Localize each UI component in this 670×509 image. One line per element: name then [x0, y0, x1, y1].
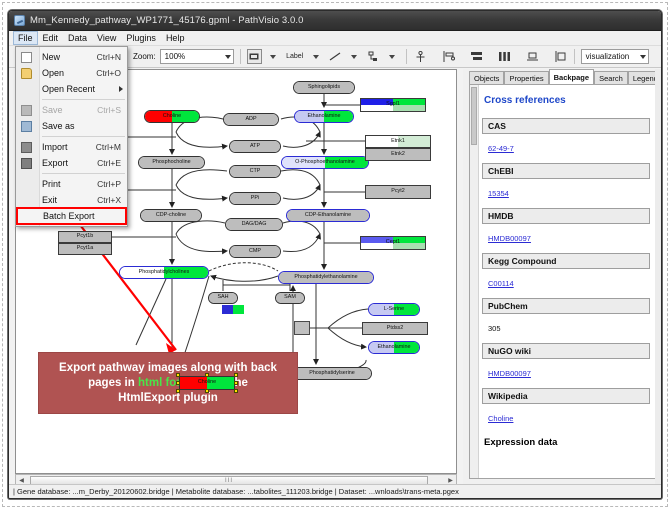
file-menu-item-save: SaveCtrl+S: [16, 102, 127, 118]
interaction-dropdown-icon[interactable]: [385, 49, 400, 64]
selection-handle[interactable]: [176, 389, 180, 393]
gene-node[interactable]: Pcyt1b: [58, 231, 112, 243]
xref-value: 305: [488, 324, 501, 333]
menu-help[interactable]: Help: [161, 31, 190, 45]
statusbar: | Gene database: ...m_Derby_20120602.bri…: [9, 484, 661, 498]
metabolite-label: CDP-choline: [156, 213, 186, 218]
gene-node[interactable]: Etnk1: [365, 135, 431, 148]
file-menu-item-import[interactable]: ImportCtrl+M: [16, 139, 127, 155]
line-dropdown-icon[interactable]: [347, 49, 362, 64]
file-menu-accelerator: Ctrl+X: [97, 195, 127, 205]
xref-database-header: PubChem: [482, 298, 650, 314]
metabolite-label: Sphingolipids: [308, 85, 340, 90]
panel-right-edge: [655, 69, 661, 486]
metabolite-label: SAM: [284, 295, 296, 300]
xref-value-row: HMDB00097: [482, 363, 659, 388]
metabolite-label: SAH: [217, 295, 228, 300]
file-menu-label: Batch Export: [43, 211, 120, 221]
metabolite-label: ADP: [245, 117, 256, 122]
gene-label: Ptdss2: [387, 326, 403, 331]
xref-value-row: 62-49-7: [482, 138, 659, 163]
metabolite-node[interactable]: CDP-Ethanolamine: [286, 209, 370, 222]
align-left-icon[interactable]: [441, 49, 456, 64]
selection-handle[interactable]: [176, 373, 180, 377]
file-menu-label: Export: [42, 158, 97, 168]
file-menu-label: Save as: [42, 121, 121, 131]
gene-node[interactable]: Cept1: [360, 236, 426, 250]
file-menu-separator: [42, 99, 125, 100]
cross-references-title: Cross references: [484, 95, 659, 106]
metabolite-label: PPi: [251, 196, 259, 201]
tab-search[interactable]: Search: [594, 71, 628, 84]
metabolite-node[interactable]: PPi: [229, 192, 281, 205]
xref-link[interactable]: C00114: [488, 279, 514, 288]
align-center-icon[interactable]: [469, 49, 484, 64]
file-menu-item-new[interactable]: NewCtrl+N: [16, 49, 127, 65]
metabolite-node[interactable]: Phosphocholine: [138, 156, 205, 169]
metabolite-label: O-Phosphoethanolamine: [295, 160, 355, 165]
metabolite-label: CTP: [250, 169, 261, 174]
visualization-value: visualization: [586, 52, 630, 61]
gene-node[interactable]: Etnk2: [365, 148, 431, 161]
menu-data[interactable]: Data: [63, 31, 92, 45]
file-menu-accelerator: Ctrl+O: [96, 68, 127, 78]
screenshot-root: Mm_Kennedy_pathway_WP1771_45176.gpml - P…: [0, 0, 670, 509]
align-bottom-icon[interactable]: [525, 49, 540, 64]
file-menu-accelerator: Ctrl+P: [97, 179, 127, 189]
small-split-box: [222, 305, 244, 314]
metabolite-node[interactable]: SAM: [275, 292, 305, 304]
datanode-dropdown-icon[interactable]: [266, 49, 281, 64]
menu-edit[interactable]: Edit: [38, 31, 64, 45]
gene-label: Etnk1: [391, 139, 405, 144]
file-menu-item-batch-export[interactable]: Batch Export: [17, 208, 126, 224]
xref-link[interactable]: 15354: [488, 189, 509, 198]
metabolite-label: Ethanolamine: [378, 345, 411, 350]
xref-value-row: C00114: [482, 273, 659, 298]
metabolite-label: Phosphatidylethanolamine: [294, 275, 357, 280]
selection-handle[interactable]: [234, 389, 238, 393]
annotation-line-3: HtmlExport plugin: [118, 391, 218, 406]
gene-label: Pcyt1a: [77, 246, 93, 251]
metabolite-node[interactable]: CTP: [229, 165, 281, 178]
interaction-anchor-box: [294, 321, 310, 335]
pathvisio-icon: [14, 15, 25, 26]
metabolite-node[interactable]: Phosphatidylserine: [292, 367, 372, 380]
xref-database-header: ChEBI: [482, 163, 650, 179]
file-menu-item-export[interactable]: ExportCtrl+E: [16, 155, 127, 171]
metabolite-node[interactable]: DAG/DAG: [225, 218, 283, 231]
xref-link[interactable]: Choline: [488, 414, 513, 423]
selected-node-label: Choline: [198, 380, 216, 385]
file-menu-item-print[interactable]: PrintCtrl+P: [16, 176, 127, 192]
metabolite-node[interactable]: O-Phosphoethanolamine: [281, 156, 369, 169]
metabolite-label: Choline: [163, 114, 181, 119]
file-menu-label: New: [42, 52, 97, 62]
export-icon: [21, 158, 32, 169]
gene-node[interactable]: Sgpl1: [360, 98, 426, 112]
file-menu-label: Open: [42, 68, 96, 78]
metabolite-node[interactable]: SAH: [208, 292, 238, 304]
cross-reference-list: CAS62-49-7ChEBI15354HMDBHMDB00097Kegg Co…: [482, 118, 659, 433]
file-menu-accelerator: Ctrl+M: [96, 142, 127, 152]
file-menu-label: Import: [42, 142, 96, 152]
save-disk-icon: [21, 105, 32, 116]
menu-view[interactable]: View: [92, 31, 121, 45]
metabolite-label: ATP: [250, 144, 260, 149]
metabolite-label: CDP-Ethanolamine: [305, 213, 351, 218]
file-menu-item-open-recent[interactable]: Open Recent: [16, 81, 127, 97]
chevron-down-icon: [225, 55, 231, 59]
gene-label: Pcyt2: [391, 189, 404, 194]
side-panel-tabstrip: Objects Properties Backpage Search Legen…: [469, 69, 662, 84]
window-title: Mm_Kennedy_pathway_WP1771_45176.gpml - P…: [30, 15, 304, 26]
zoom-combo[interactable]: 100%: [160, 49, 234, 64]
distribute-horizontal-icon[interactable]: [497, 49, 512, 64]
metabolite-label: DAG/DAG: [242, 222, 267, 227]
metabolite-node[interactable]: L-Serine: [368, 303, 420, 316]
chevron-down-icon-2: [640, 55, 646, 59]
file-menu-item-open[interactable]: OpenCtrl+O: [16, 65, 127, 81]
visualization-combo[interactable]: visualization: [581, 49, 649, 64]
backpage-scrollbar[interactable]: [470, 85, 479, 478]
metabolite-node[interactable]: Choline: [144, 110, 200, 123]
file-menu-separator: [42, 173, 125, 174]
selection-handle[interactable]: [205, 373, 209, 377]
label-button[interactable]: Label: [285, 49, 305, 64]
expression-data-title: Expression data: [484, 437, 659, 448]
metabolite-label: Phosphatidylcholines: [139, 270, 190, 275]
zoom-value: 100%: [165, 52, 185, 61]
gene-label: Cept1: [386, 240, 400, 245]
scroll-grip-icon: III: [225, 478, 233, 484]
xref-value-row: HMDB00097: [482, 228, 659, 253]
file-menu-dropdown[interactable]: NewCtrl+NOpenCtrl+OOpen RecentSaveCtrl+S…: [15, 46, 128, 227]
backpage-content: Cross references CAS62-49-7ChEBI15354HMD…: [482, 89, 659, 448]
metabolite-node[interactable]: ADP: [223, 113, 279, 126]
xref-value-row: 15354: [482, 183, 659, 208]
open-folder-icon: [21, 68, 32, 79]
xref-value-row: Choline: [482, 408, 659, 433]
menu-plugins[interactable]: Plugins: [121, 31, 161, 45]
metabolite-node[interactable]: CDP-choline: [140, 209, 202, 222]
toolbar-separator: [240, 49, 241, 64]
xref-database-header: NuGO wiki: [482, 343, 650, 359]
menu-file[interactable]: File: [13, 31, 38, 45]
file-menu-accelerator: Ctrl+N: [97, 52, 127, 62]
metabolite-node[interactable]: Sphingolipids: [293, 81, 355, 94]
anchor-icon[interactable]: [413, 49, 428, 64]
file-menu-label: Save: [42, 105, 97, 115]
xref-database-header: Kegg Compound: [482, 253, 650, 269]
metabolite-node[interactable]: Ethanolamine: [368, 341, 420, 354]
xref-link[interactable]: HMDB00097: [488, 369, 531, 378]
datanode-shape-icon[interactable]: [247, 49, 262, 64]
pathvisio-window: Mm_Kennedy_pathway_WP1771_45176.gpml - P…: [8, 10, 662, 499]
side-panel: Objects Properties Backpage Search Legen…: [463, 69, 662, 486]
selection-handle[interactable]: [205, 389, 209, 393]
gene-node[interactable]: Pcyt2: [365, 185, 431, 199]
metabolite-label: Ethanolamine: [308, 114, 341, 119]
tab-backpage[interactable]: Backpage: [549, 69, 594, 84]
gene-label: Pcyt1b: [77, 234, 93, 239]
label-button-text: Label: [286, 53, 303, 60]
metabolite-label: Phosphocholine: [152, 160, 190, 165]
xref-database-header: Wikipedia: [482, 388, 650, 404]
menubar: File Edit Data View Plugins Help: [9, 31, 661, 46]
file-menu-label: Exit: [42, 195, 97, 205]
file-menu-label: Print: [42, 179, 97, 189]
xref-link[interactable]: 62-49-7: [488, 144, 514, 153]
file-menu-accelerator: Ctrl+S: [97, 105, 127, 115]
metabolite-node[interactable]: ATP: [229, 140, 281, 153]
xref-database-header: CAS: [482, 118, 650, 134]
file-menu-item-save-as[interactable]: Save as: [16, 118, 127, 134]
submenu-arrow-icon: [119, 86, 123, 92]
import-icon: [21, 142, 32, 153]
toolbar-separator-3: [574, 49, 575, 64]
file-menu-separator: [42, 136, 125, 137]
selection-handle[interactable]: [234, 373, 238, 377]
metabolite-label: Phosphatidylserine: [309, 371, 355, 376]
toolbar-separator-2: [406, 49, 407, 64]
gene-label: Sgpl1: [386, 102, 400, 107]
metabolite-label: CMP: [249, 249, 261, 254]
gene-node[interactable]: Ptdss2: [362, 322, 428, 335]
xref-database-header: HMDB: [482, 208, 650, 224]
metabolite-node[interactable]: Ethanolamine: [294, 110, 354, 123]
xref-value-row: 305: [482, 318, 659, 343]
metabolite-node[interactable]: Phosphatidylcholines: [119, 266, 209, 279]
file-menu-item-exit[interactable]: ExitCtrl+X: [16, 192, 127, 208]
backpage-scroll-thumb[interactable]: [471, 87, 477, 145]
selection-handle[interactable]: [234, 381, 238, 385]
metabolite-node[interactable]: CMP: [229, 245, 281, 258]
selection-handle[interactable]: [176, 381, 180, 385]
tab-objects[interactable]: Objects: [469, 71, 504, 84]
metabolite-label: L-Serine: [384, 307, 404, 312]
metabolite-node[interactable]: Phosphatidylethanolamine: [278, 271, 374, 284]
statusbar-text: | Gene database: ...m_Derby_20120602.bri…: [13, 487, 459, 496]
new-document-icon: [21, 52, 32, 63]
annotation-line2-a: pages in: [88, 377, 138, 389]
line-icon[interactable]: [328, 49, 343, 64]
file-menu-label: Open Recent: [42, 84, 121, 94]
gene-label: Etnk2: [391, 152, 405, 157]
file-menu-accelerator: Ctrl+E: [97, 158, 127, 168]
window-titlebar: Mm_Kennedy_pathway_WP1771_45176.gpml - P…: [9, 11, 661, 31]
save-as-icon: [21, 121, 32, 132]
gene-node[interactable]: Pcyt1a: [58, 243, 112, 255]
backpage-panel: Cross references CAS62-49-7ChEBI15354HMD…: [469, 84, 662, 479]
label-dropdown-icon[interactable]: [309, 49, 324, 64]
xref-link[interactable]: HMDB00097: [488, 234, 531, 243]
interaction-icon[interactable]: [366, 49, 381, 64]
annotation-line-1: Export pathway images along with back: [59, 361, 277, 376]
tab-properties[interactable]: Properties: [504, 71, 548, 84]
same-width-icon[interactable]: [553, 49, 568, 64]
annotation-callout: Export pathway images along with back pa…: [38, 352, 298, 414]
selected-metabolite-node[interactable]: Choline: [179, 376, 235, 390]
zoom-label: Zoom:: [133, 52, 156, 61]
